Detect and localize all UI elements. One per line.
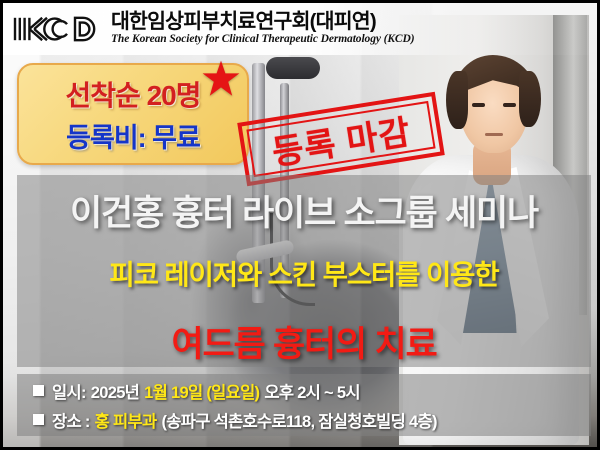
seminar-poster: 대한임상피부치료연구회(대피연) The Korean Society for … xyxy=(0,0,600,450)
venue-emphasis: 홍 피부과 xyxy=(95,408,157,432)
organization-name-english: The Korean Society for Clinical Therapeu… xyxy=(111,33,414,47)
kcd-logo-icon xyxy=(11,12,103,46)
date-emphasis: 1월 19일 (일요일) xyxy=(144,379,259,403)
venue-detail: (송파구 석촌호수로118, 잠실청호빌딩 4층) xyxy=(161,408,436,432)
square-bullet-icon xyxy=(33,414,44,425)
date-label: 일시: xyxy=(52,379,86,403)
square-bullet-icon xyxy=(33,385,44,396)
date-prefix: 2025년 xyxy=(91,379,139,403)
date-suffix: 오후 2시 ~ 5시 xyxy=(264,379,359,403)
poster-header: 대한임상피부치료연구회(대피연) The Korean Society for … xyxy=(3,3,600,55)
seminar-topic: 여드름 흉터의 치료 xyxy=(17,316,591,367)
organization-names: 대한임상피부치료연구회(대피연) The Korean Society for … xyxy=(111,11,414,47)
event-venue-row: 장소 : 홍 피부과 (송파구 석촌호수로118, 잠실청호빌딩 4층) xyxy=(33,408,591,432)
seminar-subtitle: 피코 레이저와 스킨 부스터를 이용한 xyxy=(17,252,591,292)
red-star-icon xyxy=(201,59,241,99)
seminar-title: 이건홍 흉터 라이브 소그룹 세미나 xyxy=(17,185,591,236)
notice-fee-text: 등록비: 무료 xyxy=(66,116,200,155)
event-date-row: 일시: 2025년 1월 19일 (일요일) 오후 2시 ~ 5시 xyxy=(33,379,591,403)
notice-capacity-text: 선착순 20명 xyxy=(66,74,201,114)
venue-label: 장소 : xyxy=(52,408,90,432)
organization-name-korean: 대한임상피부치료연구회(대피연) xyxy=(111,11,414,33)
event-info-band: 일시: 2025년 1월 19일 (일요일) 오후 2시 ~ 5시 장소 : 홍… xyxy=(17,374,591,436)
